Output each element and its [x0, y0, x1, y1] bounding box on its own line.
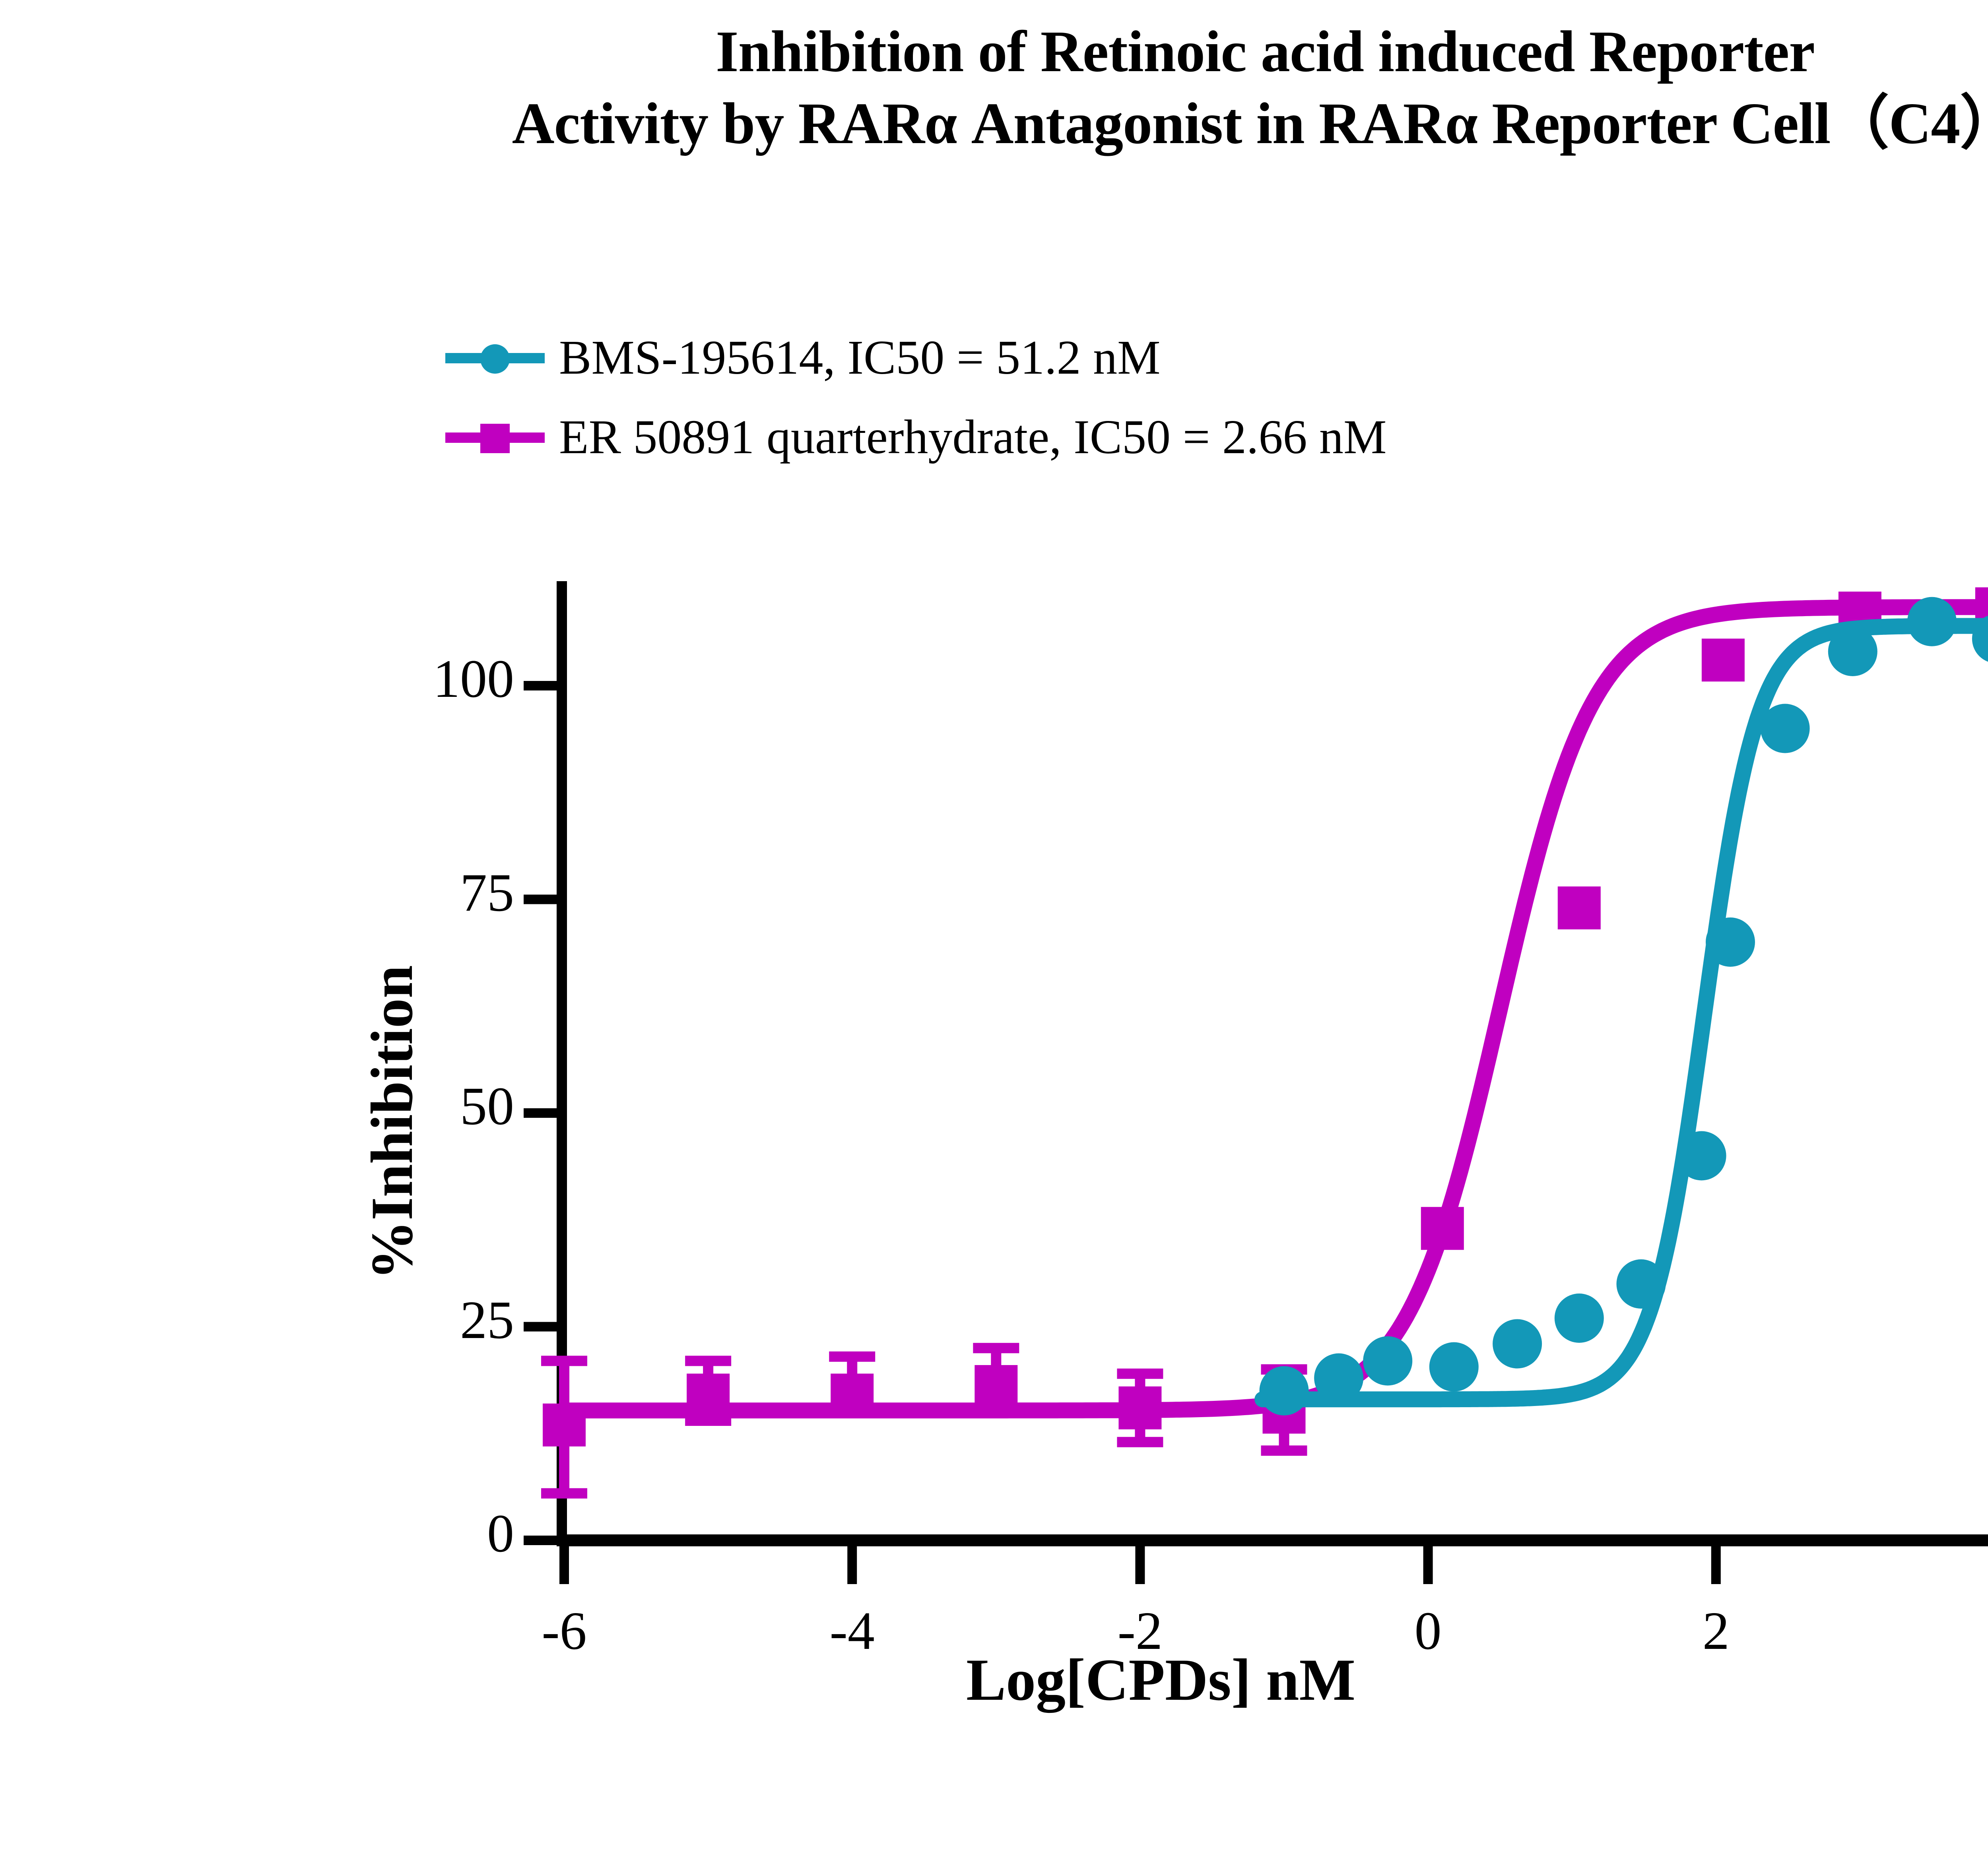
- data-point-bms-195614: [1706, 917, 1755, 967]
- data-point-er-50891: [1421, 1207, 1464, 1250]
- data-point-er-50891: [543, 1404, 586, 1447]
- data-point-bms-195614: [1493, 1319, 1542, 1369]
- data-point-er-50891: [1558, 886, 1601, 929]
- data-point-er-50891: [687, 1374, 730, 1417]
- y-axis-tick-label: 100: [355, 648, 514, 710]
- x-axis-tick-label: 4: [1905, 1600, 1988, 1662]
- y-axis-tick-label: 25: [355, 1289, 514, 1351]
- series-bms-195614: [1260, 597, 1988, 1416]
- x-axis-tick-label: 0: [1329, 1600, 1528, 1662]
- data-point-bms-195614: [1260, 1366, 1309, 1416]
- y-axis-tick-label: 75: [355, 862, 514, 924]
- data-point-bms-195614: [1555, 1294, 1604, 1343]
- plot-canvas: [0, 0, 1988, 1854]
- data-point-bms-195614: [1617, 1259, 1666, 1309]
- data-point-bms-195614: [1363, 1336, 1412, 1386]
- y-axis-tick-label: 50: [355, 1075, 514, 1137]
- data-point-er-50891: [975, 1365, 1017, 1408]
- data-point-er-50891: [831, 1374, 874, 1417]
- x-axis-tick-label: -4: [753, 1600, 951, 1662]
- data-point-bms-195614: [1314, 1354, 1363, 1403]
- y-axis-tick-label: 0: [355, 1503, 514, 1565]
- x-axis-tick-label: -2: [1041, 1600, 1239, 1662]
- data-point-er-50891: [1702, 639, 1745, 682]
- data-point-bms-195614: [1761, 704, 1810, 753]
- x-axis-tick-label: -6: [465, 1600, 664, 1662]
- x-axis-tick-label: 2: [1617, 1600, 1815, 1662]
- plot-area: %Inhibition Log[CPDs] nM 0255075100-6-4-…: [0, 0, 1988, 1854]
- data-point-er-50891: [1118, 1387, 1161, 1429]
- data-point-bms-195614: [1677, 1131, 1726, 1181]
- data-point-bms-195614: [1429, 1342, 1479, 1392]
- chart-figure: Inhibition of Retinoic acid induced Repo…: [0, 0, 1988, 1854]
- data-point-bms-195614: [1828, 627, 1877, 676]
- data-point-bms-195614: [1907, 597, 1957, 646]
